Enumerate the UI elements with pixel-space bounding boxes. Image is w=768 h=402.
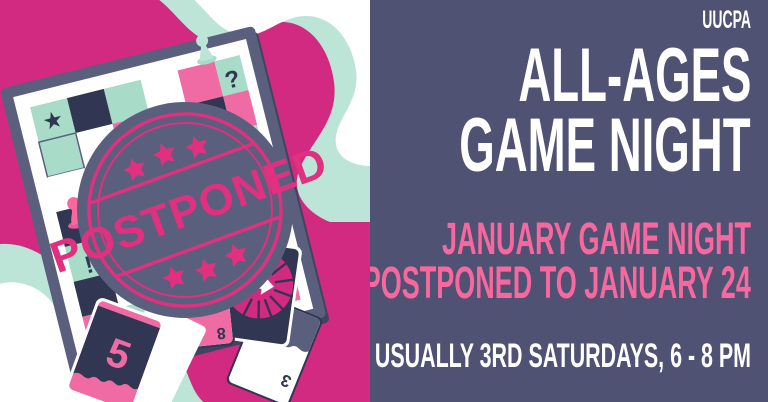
illustration-panel: ★ ! ! ? (0, 0, 370, 402)
poster-canvas: ★ ! ! ? (0, 0, 768, 402)
organization-label: UUCPA (702, 7, 751, 33)
game-night-illustration: ★ ! ! ? (0, 0, 370, 402)
subheadline-line-one: JANUARY GAME NIGHT (442, 218, 751, 260)
card-corner-value: 8 (216, 324, 227, 342)
text-panel: UUCPA ALL-AGES GAME NIGHT JANUARY GAME N… (370, 0, 768, 402)
headline-line-one: ALL-AGES (518, 42, 751, 110)
subheadline-line-two: POSTPONED TO JANUARY 24 (370, 262, 751, 304)
schedule-footnote: USUALLY 3RD SATURDAYS, 6 - 8 PM (375, 339, 751, 373)
headline-line-two: GAME NIGHT (460, 112, 751, 180)
